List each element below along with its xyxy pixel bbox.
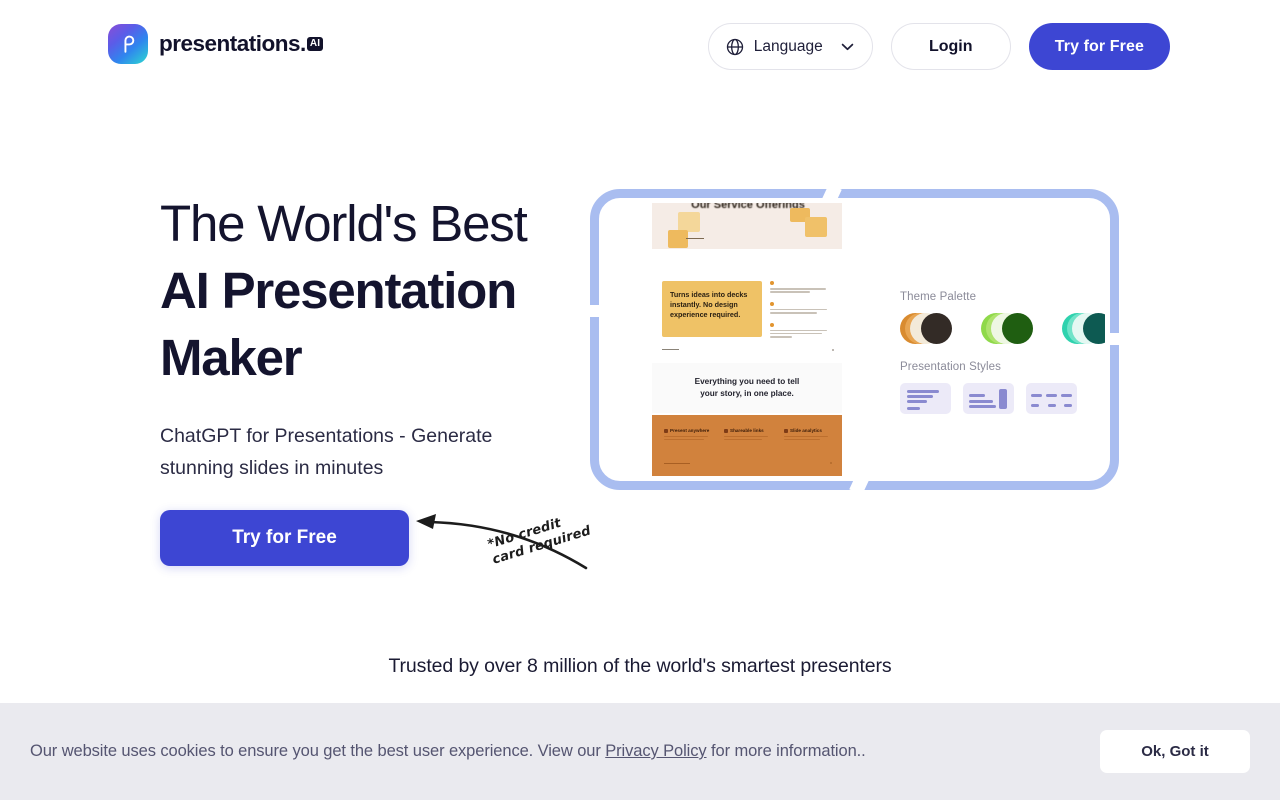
- brand-ai-badge: AI: [307, 37, 323, 51]
- list-item: Shareable links: [724, 428, 772, 441]
- bullet-dot-icon: [770, 302, 774, 306]
- hero-preview-panel: Our Service Offerings Turns ideas into d…: [590, 189, 1119, 490]
- header-actions: Language Login Try for Free: [708, 23, 1170, 70]
- cookie-consent-banner: Our website uses cookies to ensure you g…: [0, 703, 1280, 800]
- cookie-accept-button[interactable]: Ok, Got it: [1100, 730, 1250, 773]
- brand-name: presentations: [159, 31, 300, 57]
- curved-arrow-left-icon: [410, 512, 600, 572]
- feature-icon: [664, 429, 668, 433]
- palette-swatch-lime-forest[interactable]: [981, 313, 1033, 344]
- list-item: [770, 323, 830, 338]
- cookie-text-after: for more information..: [707, 742, 866, 760]
- deco-rule: [686, 238, 704, 239]
- bullet-text-lines: [770, 288, 830, 293]
- slide-footer-dot: [830, 462, 832, 464]
- feature-title: Slide analytics: [790, 428, 822, 433]
- hero-content: The World's Best AI Presentation Maker C…: [160, 190, 580, 484]
- style-card-three-column[interactable]: [1026, 383, 1077, 414]
- bullet-dot-icon: [770, 281, 774, 285]
- headline-line-3: Maker: [160, 324, 580, 391]
- style-card-text-with-image[interactable]: [963, 383, 1014, 414]
- feature-title: Shareable links: [730, 428, 764, 433]
- slide-quote-line-1: Everything you need to tell: [695, 376, 800, 388]
- no-credit-card-text: *No credit card required: [486, 508, 593, 568]
- landing-page: presentations.AI Language: [0, 0, 1280, 800]
- feature-icon: [784, 429, 788, 433]
- frame-gap-left: [587, 305, 603, 317]
- deco-square-b: [678, 212, 700, 232]
- slide-feature-row: Present anywhere Shareable links: [664, 428, 832, 441]
- cookie-message: Our website uses cookies to ensure you g…: [30, 742, 866, 761]
- no-credit-card-annotation: *No credit card required: [410, 512, 600, 602]
- page-title: The World's Best AI Presentation Maker: [160, 190, 580, 391]
- palette-swatch-amber-charcoal[interactable]: [900, 313, 952, 344]
- slide-footer-band: Present anywhere Shareable links: [652, 415, 842, 476]
- presentations-logo-p-icon: [108, 24, 148, 64]
- presentation-style-options: [900, 383, 1077, 414]
- brand-logo[interactable]: presentations.AI: [108, 24, 323, 64]
- bullet-text-lines: [770, 330, 830, 338]
- slide-bullet-list: [770, 281, 830, 347]
- bullet-text-lines: [770, 309, 830, 314]
- theme-palette-label: Theme Palette: [900, 291, 976, 303]
- slide-preview-column: Our Service Offerings Turns ideas into d…: [652, 203, 842, 476]
- globe-icon: [725, 37, 745, 57]
- trusted-by-text: Trusted by over 8 million of the world's…: [0, 655, 1280, 678]
- header-try-for-free-button[interactable]: Try for Free: [1029, 23, 1170, 70]
- chevron-down-icon: [841, 43, 854, 51]
- site-header: presentations.AI Language: [0, 0, 1280, 94]
- slide-quote-line-2: your story, in one place.: [695, 388, 800, 400]
- deco-square-d: [805, 217, 827, 237]
- hero-subheadline: ChatGPT for Presentations - Generate stu…: [160, 420, 540, 484]
- theme-configuration-panel: Theme Palette: [892, 203, 1105, 476]
- language-selector[interactable]: Language: [708, 23, 873, 70]
- deco-square-a: [668, 230, 688, 248]
- privacy-policy-link[interactable]: Privacy Policy: [605, 742, 706, 760]
- login-button[interactable]: Login: [891, 23, 1011, 70]
- slide-divider: [662, 349, 679, 350]
- feature-icon: [724, 429, 728, 433]
- feature-title: Present anywhere: [670, 428, 709, 433]
- theme-palette-options: [900, 313, 1105, 344]
- brand-wordmark: presentations.AI: [159, 31, 323, 57]
- slide-page-dot: [832, 349, 834, 351]
- preview-inner-surface: Our Service Offerings Turns ideas into d…: [604, 203, 1105, 476]
- cookie-text-before: Our website uses cookies to ensure you g…: [30, 742, 605, 760]
- list-item: Present anywhere: [664, 428, 712, 441]
- headline-line-2: AI Presentation: [160, 257, 580, 324]
- presentation-styles-label: Presentation Styles: [900, 361, 1001, 373]
- list-item: Slide analytics: [784, 428, 832, 441]
- list-item: [770, 281, 830, 293]
- frame-gap-right: [1106, 333, 1122, 345]
- bullet-dot-icon: [770, 323, 774, 327]
- headline-line-1: The World's Best: [160, 190, 580, 257]
- list-item: [770, 302, 830, 314]
- language-label: Language: [754, 38, 823, 56]
- slide-quote-band: Everything you need to tell your story, …: [652, 363, 842, 413]
- slide-footer-divider: [664, 463, 690, 464]
- hero-try-for-free-button[interactable]: Try for Free: [160, 510, 409, 566]
- brand-dot: .: [300, 31, 306, 57]
- style-card-left-aligned-text[interactable]: [900, 383, 951, 414]
- slide-orange-card: Turns ideas into decks instantly. No des…: [662, 281, 762, 337]
- palette-swatch-mint-teal[interactable]: [1062, 313, 1105, 344]
